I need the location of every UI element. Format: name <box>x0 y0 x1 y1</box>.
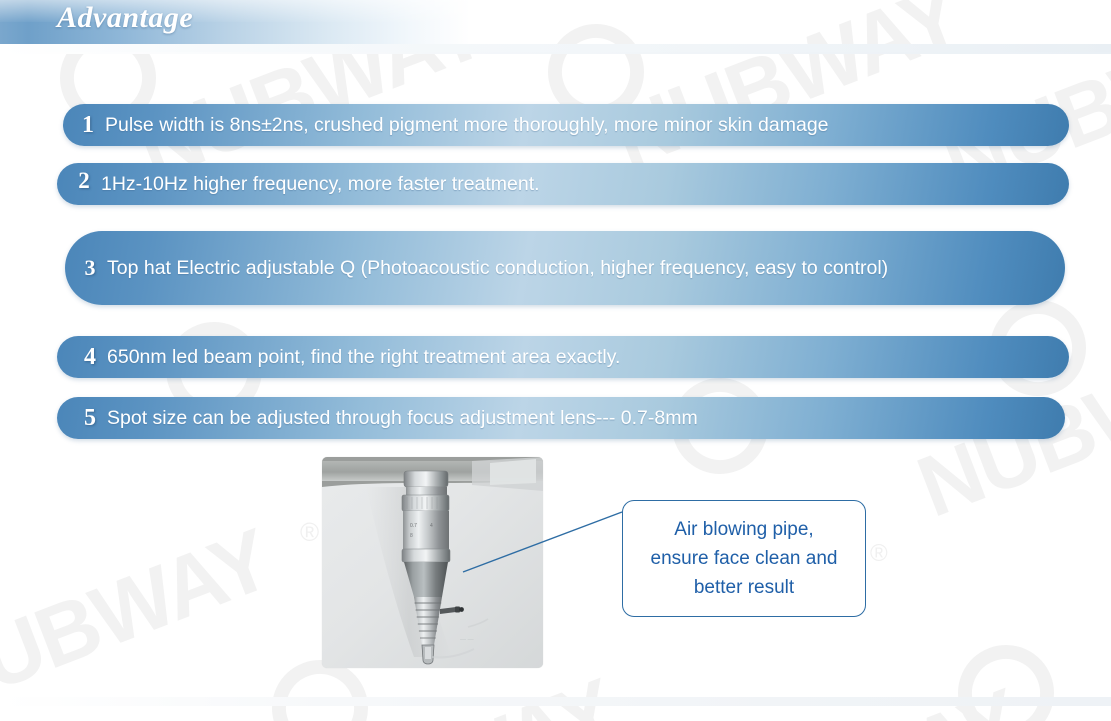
advantage-item-1: 1 Pulse width is 8ns±2ns, crushed pigmen… <box>63 104 1069 146</box>
callout-line-1: Air blowing pipe, <box>674 519 813 540</box>
callout-text: Air blowing pipe, ensure face clean and … <box>641 515 848 602</box>
svg-text:0.7: 0.7 <box>410 523 417 529</box>
callout-line-3: better result <box>694 577 794 598</box>
callout-line-2: ensure face clean and <box>651 548 838 569</box>
svg-text:— —: — — <box>460 637 474 643</box>
svg-text:8: 8 <box>410 533 413 539</box>
advantage-list: 1 Pulse width is 8ns±2ns, crushed pigmen… <box>0 0 1111 721</box>
handpiece-illustration: 0.7 4 8 <box>322 457 543 668</box>
advantage-item-4: 4 650nm led beam point, find the right t… <box>57 336 1069 378</box>
advantage-number: 3 <box>73 255 107 281</box>
advantage-text: Spot size can be adjusted through focus … <box>107 405 1041 431</box>
svg-text:4: 4 <box>430 523 433 529</box>
advantage-text: Pulse width is 8ns±2ns, crushed pigment … <box>105 112 1045 138</box>
advantage-text: 650nm led beam point, find the right tre… <box>107 344 1045 370</box>
advantage-number: 2 <box>67 168 101 194</box>
advantage-item-5: 5 Spot size can be adjusted through focu… <box>57 397 1065 439</box>
advantage-item-3: 3 Top hat Electric adjustable Q (Photoac… <box>65 231 1065 305</box>
slide-root: NUBWAY NUBWAY NUBWAY NUBWAY NUBWAY NUBWA… <box>0 0 1111 721</box>
advantage-text: 1Hz-10Hz higher frequency, more faster t… <box>101 171 1045 197</box>
callout-box: Air blowing pipe, ensure face clean and … <box>622 500 866 617</box>
advantage-number: 5 <box>73 405 107 432</box>
advantage-text: Top hat Electric adjustable Q (Photoacou… <box>107 255 1025 281</box>
product-photo: 0.7 4 8 <box>322 457 543 668</box>
advantage-item-2: 2 1Hz-10Hz higher frequency, more faster… <box>57 163 1069 205</box>
advantage-number: 4 <box>73 344 107 371</box>
advantage-number: 1 <box>71 112 105 139</box>
